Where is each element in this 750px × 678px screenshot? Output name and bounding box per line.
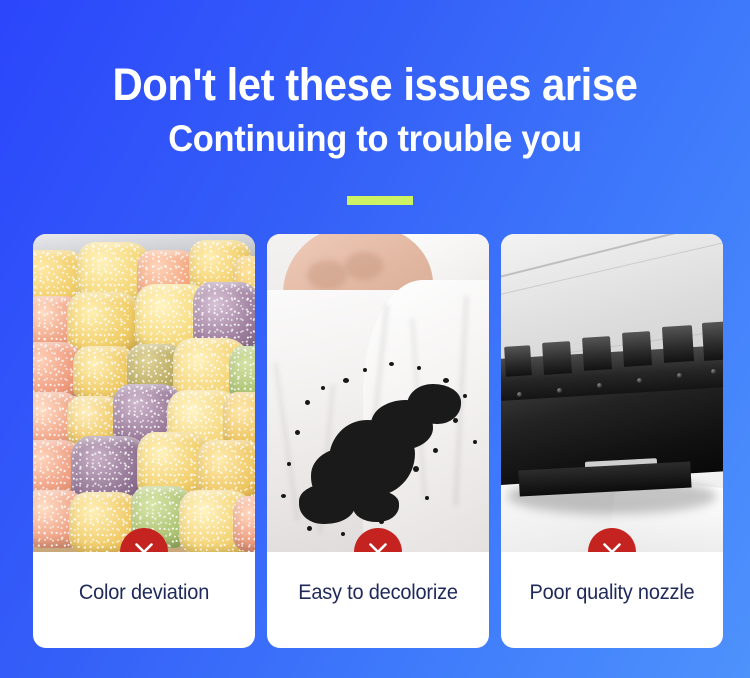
photo-decor — [295, 430, 300, 435]
photo-decor — [597, 383, 602, 388]
photo-decor — [425, 496, 429, 500]
photo-decor — [677, 373, 682, 378]
photo-decor — [622, 331, 652, 367]
photo-decor — [307, 260, 347, 290]
card-photo-easy-to-decolorize — [267, 234, 489, 552]
photo-decor — [321, 386, 325, 390]
photo-decor — [433, 448, 438, 453]
photo-decor — [379, 520, 384, 524]
photo-decor — [582, 336, 612, 371]
card-caption: Easy to decolorize — [273, 552, 484, 648]
promo-banner: Don't let these issues arise Continuing … — [0, 0, 750, 678]
photo-decor — [341, 532, 345, 536]
photo-decor — [413, 466, 419, 472]
card-caption: Color deviation — [39, 552, 250, 648]
issue-card[interactable]: Poor quality nozzle — [501, 234, 723, 648]
headline-block: Don't let these issues arise Continuing … — [0, 58, 750, 162]
issue-cards-row: Color deviation — [33, 234, 723, 648]
card-photo-poor-quality-nozzle — [501, 234, 723, 552]
accent-divider-bar — [347, 196, 413, 205]
photo-decor — [453, 418, 458, 423]
photo-decor — [702, 321, 723, 361]
photo-decor — [504, 345, 532, 377]
photo-decor — [287, 462, 291, 466]
photo-decor — [281, 494, 286, 498]
photo-decor — [711, 369, 716, 374]
photo-decor — [305, 400, 310, 405]
photo-decor — [517, 392, 522, 397]
headline-primary: Don't let these issues arise — [26, 58, 724, 112]
photo-decor — [353, 490, 399, 522]
photo-decor — [389, 362, 394, 366]
photo-decor — [233, 496, 255, 552]
card-caption: Poor quality nozzle — [507, 552, 718, 648]
photo-decor — [343, 378, 349, 383]
photo-decor — [443, 378, 449, 383]
headline-secondary: Continuing to trouble you — [26, 116, 724, 162]
photo-decor — [473, 440, 477, 444]
photo-decor — [542, 341, 572, 375]
photo-decor — [501, 234, 723, 280]
issue-card[interactable]: Easy to decolorize — [267, 234, 489, 648]
card-photo-color-deviation — [33, 234, 255, 552]
photo-decor — [417, 366, 421, 370]
photo-decor — [662, 325, 694, 363]
photo-decor — [637, 378, 642, 383]
photo-decor — [345, 252, 383, 280]
photo-decor — [307, 526, 312, 531]
photo-decor — [463, 394, 467, 398]
photo-decor — [363, 368, 367, 372]
photo-decor — [299, 484, 355, 524]
photo-decor — [557, 388, 562, 393]
issue-card[interactable]: Color deviation — [33, 234, 255, 648]
